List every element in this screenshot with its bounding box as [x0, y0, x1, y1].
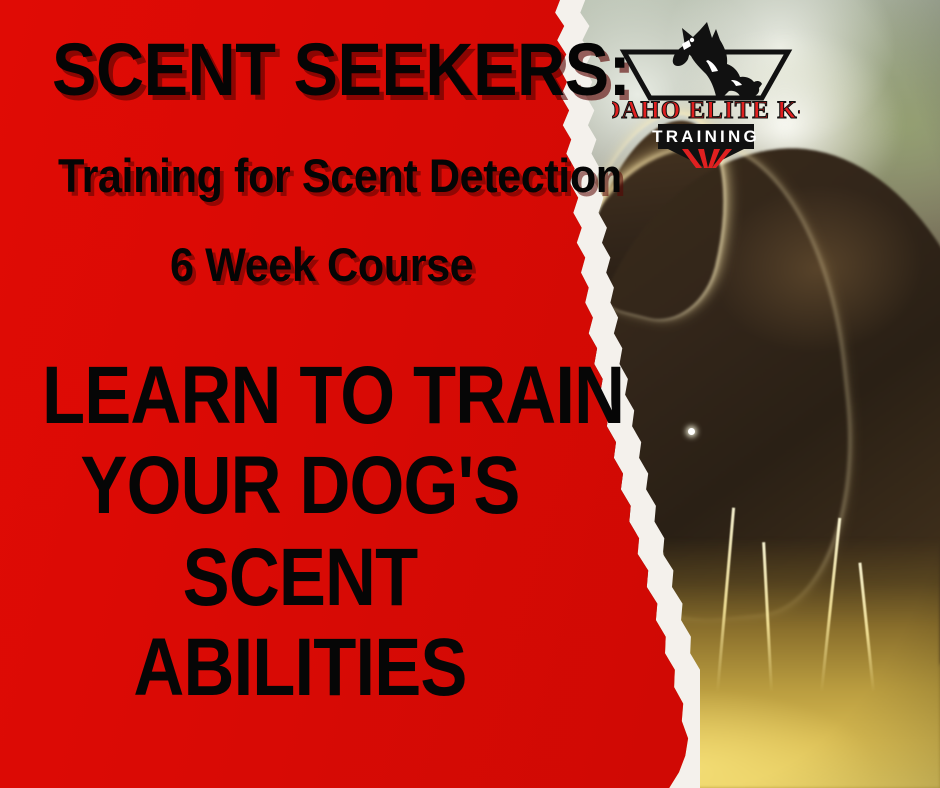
callout-line-1: LEARN TO TRAIN [42, 358, 558, 433]
poster-canvas: SCENT SEEKERS: Training for Scent Detect… [0, 0, 940, 788]
logo-triangle [668, 149, 744, 168]
poster-title: SCENT SEEKERS: [52, 33, 630, 107]
callout-line-3: SCENT [42, 540, 558, 615]
logo-brand-sub: TRAINING [652, 127, 760, 146]
idaho-elite-k9-logo[interactable]: IDAHO ELITE K-9 TRAINING [612, 18, 800, 168]
callout-line-2: YOUR DOG'S [42, 448, 558, 523]
poster-subtitle-2: 6 Week Course [170, 241, 473, 288]
poster-subtitle-1: Training for Scent Detection [58, 152, 622, 199]
logo-brand-line: IDAHO ELITE K-9 [612, 97, 800, 124]
callout-line-4: ABILITIES [42, 630, 558, 705]
german-shepherd-icon [673, 22, 762, 96]
logo-svg: IDAHO ELITE K-9 TRAINING [612, 18, 800, 168]
